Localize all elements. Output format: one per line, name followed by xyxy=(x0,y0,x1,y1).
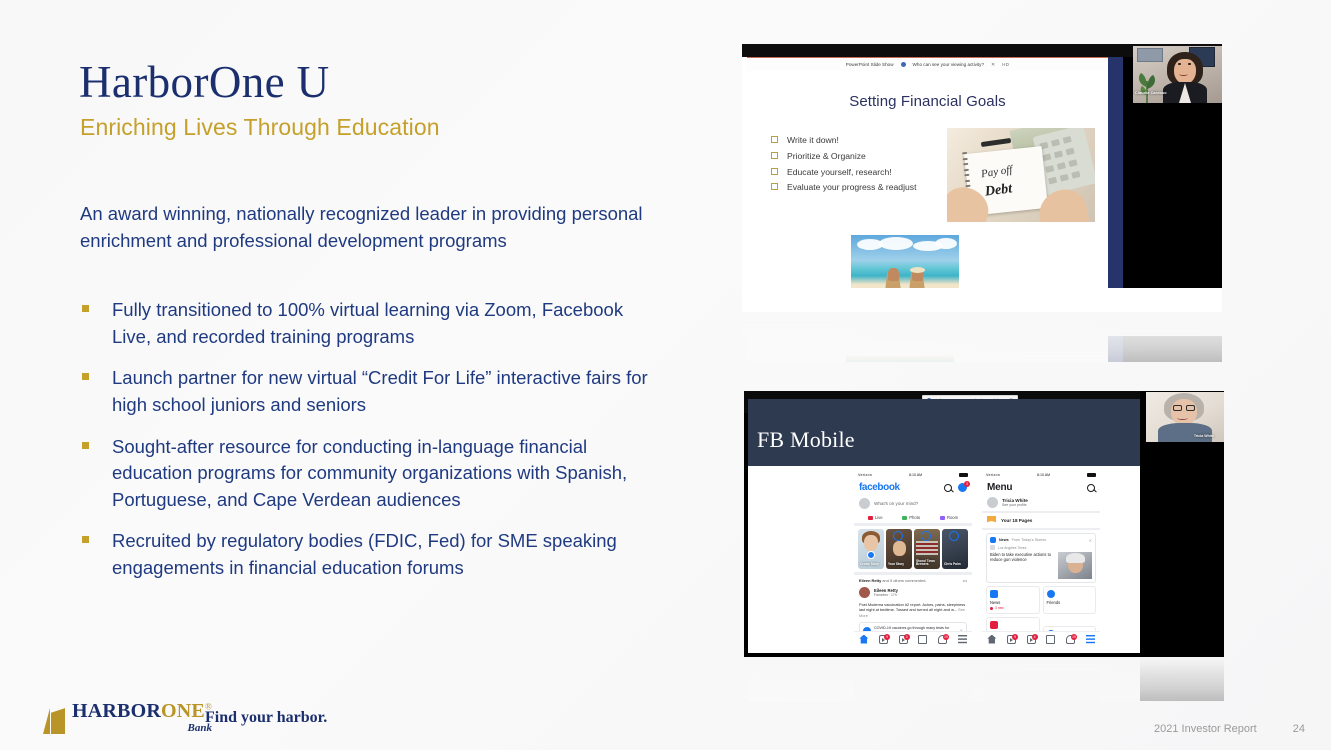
menu-cell-news[interactable]: News 3 new xyxy=(986,586,1040,614)
menu-cell-friends[interactable]: Friends xyxy=(1043,586,1097,614)
close-icon[interactable]: ✕ xyxy=(1089,538,1092,543)
phone-status-bar: Verizon 8:10 AM xyxy=(982,471,1100,479)
menu-cell-label: News xyxy=(990,600,1036,605)
story-card[interactable]: Stoool Town Brewers xyxy=(914,529,940,569)
close-icon[interactable]: ✕ xyxy=(991,62,995,68)
menu-title: Menu xyxy=(987,482,1012,493)
post-body-text: Post Moderna vaccination #2 report. Ache… xyxy=(859,602,965,612)
logo-harbor-text: HARBOR xyxy=(72,700,161,722)
tab-menu-icon[interactable] xyxy=(958,635,967,644)
marketplace-icon xyxy=(990,621,998,629)
phone-mockup-feed: Verizon 8:10 AM facebook 3 What's on you… xyxy=(854,471,972,646)
story-card[interactable]: Create Story xyxy=(858,529,884,569)
tab-marketplace-icon[interactable]: 4 xyxy=(1027,635,1036,644)
carrier-label: Verizon xyxy=(858,473,872,477)
logo-bank-text: Bank xyxy=(72,722,212,734)
checklist-item-text: Write it down! xyxy=(787,135,839,145)
checkbox-icon xyxy=(771,152,778,159)
room-button[interactable]: Room xyxy=(940,515,958,520)
battery-icon xyxy=(959,473,968,477)
tab-badge: 19 xyxy=(943,634,949,640)
tab-badge: 19 xyxy=(1071,634,1077,640)
checklist-item-text: Evaluate your progress & readjust xyxy=(787,182,916,192)
presenter-video-tile: Tricia White xyxy=(1146,392,1224,442)
story-label: Chris Palm xyxy=(944,563,961,567)
menu-cell-label: Friends xyxy=(1047,600,1093,605)
footer-meta: 2021 Investor Report 24 xyxy=(1154,723,1305,735)
create-story-icon xyxy=(867,551,875,559)
page-subtitle: Enriching Lives Through Education xyxy=(80,114,440,141)
browser-urlbar: PowerPoint Slide Show Who can see your v… xyxy=(747,57,1108,71)
intro-paragraph: An award winning, nationally recognized … xyxy=(80,201,650,254)
slide-side-band xyxy=(1108,57,1123,288)
viewing-activity-text: Who can see your viewing activity? xyxy=(913,62,985,67)
tab-pages-icon[interactable] xyxy=(918,635,927,644)
story-label: Your Story xyxy=(888,563,904,567)
list-item-text: Fully transitioned to 100% virtual learn… xyxy=(112,299,623,347)
post-header: Eileen Retty Favorites · 17h · xyxy=(854,585,972,600)
tab-home-icon[interactable] xyxy=(859,635,868,644)
phone-status-bar: Verizon 8:10 AM xyxy=(854,471,972,479)
sail-logo-icon xyxy=(43,708,65,734)
tab-home-icon[interactable] xyxy=(987,635,996,644)
bullet-marker-icon xyxy=(82,442,89,449)
page-number: 24 xyxy=(1293,723,1305,735)
stories-row: Create Story Your Story Stoool Town Brew… xyxy=(854,526,972,572)
clock-label: 8:10 AM xyxy=(1037,473,1050,477)
tab-notifications-icon[interactable]: 19 xyxy=(1066,635,1075,644)
tab-badge: 9 xyxy=(1012,634,1018,640)
slide-checklist: Write it down! Prioritize & Organize Edu… xyxy=(771,135,926,198)
commenter-name: Eileen Retty xyxy=(859,578,881,583)
news-source: Los Angeles Times xyxy=(998,546,1026,550)
news-icon xyxy=(990,590,998,598)
carrier-label: Verizon xyxy=(986,473,1000,477)
news-icon xyxy=(990,537,996,543)
page-title: HarborOne U xyxy=(79,59,330,106)
tab-marketplace-icon[interactable]: 3 xyxy=(899,635,908,644)
hd-badge: HD xyxy=(1002,62,1009,67)
screenshot-reflection-top xyxy=(742,312,1222,362)
avatar xyxy=(859,498,870,509)
report-name: 2021 Investor Report xyxy=(1154,723,1257,735)
checklist-item-text: Educate yourself, research! xyxy=(787,167,892,177)
slideshow-label: PowerPoint Slide Show xyxy=(846,62,894,67)
phone-mockup-menu: Verizon 8:10 AM Menu Tricia White See yo… xyxy=(982,471,1100,646)
checkbox-icon xyxy=(771,136,778,143)
tab-watch-icon[interactable]: 9 xyxy=(1007,635,1016,644)
plant-icon xyxy=(1135,67,1159,103)
logo-tagline: Find your harbor. xyxy=(205,709,327,727)
tab-watch-icon[interactable]: 9 xyxy=(879,635,888,644)
bullet-marker-icon xyxy=(82,536,89,543)
harborone-logo: HARBORONE® Bank xyxy=(43,701,212,734)
composer-actions: Live Photo Room xyxy=(854,512,972,526)
search-icon[interactable] xyxy=(944,484,952,492)
checkbox-icon xyxy=(771,168,778,175)
post-text: Post Moderna vaccination #2 report. Ache… xyxy=(854,600,972,620)
slideshow-bottom-bar xyxy=(742,288,1222,312)
phone-tabbar: 9 4 19 xyxy=(982,631,1100,646)
source-logo-icon xyxy=(990,545,995,550)
note-line-2: Debt xyxy=(984,181,1013,200)
room-label: Room xyxy=(947,515,958,520)
photo-button[interactable]: Photo xyxy=(902,515,920,520)
story-label: Create Story xyxy=(860,563,879,567)
list-item: Sought-after resource for conducting in-… xyxy=(80,434,665,514)
menu-header: Menu xyxy=(982,479,1100,495)
tab-badge: 3 xyxy=(904,634,910,640)
tab-menu-icon[interactable] xyxy=(1086,635,1095,644)
slide-title: Setting Financial Goals xyxy=(747,93,1108,110)
checklist-item: Evaluate your progress & readjust xyxy=(771,182,926,193)
checklist-item: Educate yourself, research! xyxy=(771,167,926,178)
list-item: Recruited by regulatory bodies (FDIC, Fe… xyxy=(80,528,665,581)
photo-label: Photo xyxy=(909,515,920,520)
facebook-icon xyxy=(901,62,906,67)
list-item: Launch partner for new virtual “Credit F… xyxy=(80,365,665,418)
tab-pages-icon[interactable] xyxy=(1046,635,1055,644)
list-item-text: Sought-after resource for conducting in-… xyxy=(112,436,627,510)
logo-one-text: ONE xyxy=(161,700,205,722)
news-thumbnail xyxy=(1058,552,1092,579)
screenshot-reflection-bottom xyxy=(744,657,1224,701)
comment-summary: Eileen Retty and 5 others commented. ••• xyxy=(854,572,972,585)
story-card[interactable]: Chris Palm xyxy=(942,529,968,569)
pages-flag-icon xyxy=(987,516,996,525)
comment-rest: and 5 others commented. xyxy=(882,578,926,583)
clock-label: 8:10 AM xyxy=(909,473,922,477)
news-headline: Biden to take executive actions to reduc… xyxy=(990,552,1054,579)
story-label: Stoool Town Brewers xyxy=(916,560,940,567)
checklist-item-text: Prioritize & Organize xyxy=(787,151,866,161)
presenter-name-label: Tricia White xyxy=(1194,434,1214,438)
avatar xyxy=(987,497,998,508)
your-pages-row[interactable]: Your 18 Pages xyxy=(982,511,1100,530)
facebook-app-header: facebook 3 xyxy=(854,479,972,495)
screenshot-powerpoint-slideshow: PowerPoint Slide Show Who can see your v… xyxy=(742,44,1222,312)
composer-placeholder: What's on your mind? xyxy=(874,501,918,506)
more-options-icon[interactable]: ••• xyxy=(963,578,967,583)
checklist-item: Prioritize & Organize xyxy=(771,151,926,162)
screenshot-fb-mobile: Who can see your viewing activity? ✕ FB … xyxy=(744,391,1224,657)
tab-notifications-icon[interactable]: 19 xyxy=(938,635,947,644)
bullet-marker-icon xyxy=(82,305,89,312)
tab-badge: 4 xyxy=(1032,634,1038,640)
avatar xyxy=(859,587,870,598)
pages-label: Your 18 Pages xyxy=(1001,518,1032,523)
list-item-text: Recruited by regulatory bodies (FDIC, Fe… xyxy=(112,530,617,578)
phone-tabbar: 9 3 19 xyxy=(854,631,972,646)
list-item: Fully transitioned to 100% virtual learn… xyxy=(80,297,665,350)
messenger-icon[interactable]: 3 xyxy=(958,483,967,492)
story-card[interactable]: Your Story xyxy=(886,529,912,569)
live-label: Live xyxy=(875,515,883,520)
slide-title: FB Mobile xyxy=(757,427,855,453)
tab-badge: 9 xyxy=(884,634,890,640)
news-label: News xyxy=(999,538,1009,542)
live-button[interactable]: Live xyxy=(868,515,883,520)
presenter-video-tile: Claudia Cardoso xyxy=(1133,46,1222,103)
presentation-slide: HarborOne U Enriching Lives Through Educ… xyxy=(0,0,1331,750)
message-badge: 3 xyxy=(964,481,970,487)
battery-icon xyxy=(1087,473,1096,477)
list-item-text: Launch partner for new virtual “Credit F… xyxy=(112,367,648,415)
checkbox-icon xyxy=(771,183,778,190)
bullet-marker-icon xyxy=(82,373,89,380)
beach-vacation-photo xyxy=(851,235,959,295)
friends-icon xyxy=(1047,590,1055,598)
post-meta: Favorites · 17h · xyxy=(874,593,899,597)
search-icon[interactable] xyxy=(1087,484,1095,492)
profile-row[interactable]: Tricia White See your profile xyxy=(982,495,1100,511)
menu-cell-sub: 3 new xyxy=(990,606,1036,610)
facebook-wordmark: facebook xyxy=(859,482,900,493)
news-sub: From Today's Stories xyxy=(1012,538,1086,542)
presenter-name-label: Claudia Cardoso xyxy=(1135,91,1167,95)
status-composer[interactable]: What's on your mind? xyxy=(854,495,972,512)
profile-subtitle: See your profile xyxy=(1002,503,1028,507)
checklist-item: Write it down! xyxy=(771,135,926,146)
powerpoint-stage: Setting Financial Goals Write it down! P… xyxy=(747,71,1108,288)
news-card[interactable]: News From Today's Stories ✕ Los Angeles … xyxy=(986,533,1096,583)
bullet-list: Fully transitioned to 100% virtual learn… xyxy=(80,297,665,597)
pay-off-debt-photo: Pay off Debt xyxy=(947,128,1095,222)
